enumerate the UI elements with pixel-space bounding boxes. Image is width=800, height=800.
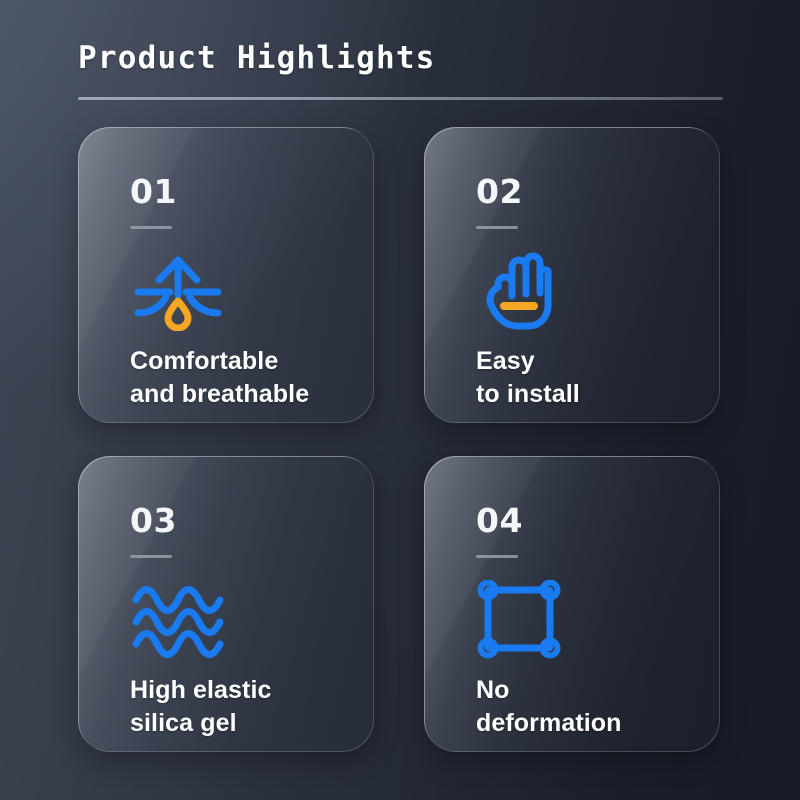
square-frame-icon (488, 590, 550, 648)
page-title: Product Highlights (78, 38, 722, 78)
breathable-airflow-icon (130, 251, 226, 331)
card-number-divider (130, 555, 172, 558)
hand-palm-icon (476, 251, 572, 331)
card-label: Easy to install (476, 345, 720, 411)
title-divider (78, 97, 723, 100)
highlight-card-04[interactable]: 04 No deformation (424, 456, 720, 752)
card-number: 01 (130, 175, 374, 209)
product-highlights-poster: Product Highlights 01 (0, 0, 800, 800)
highlight-card-02[interactable]: 02 Easy to install (424, 127, 720, 423)
card-number-divider (476, 555, 518, 558)
card-label: Comfortable and breathable (130, 345, 374, 411)
card-number: 02 (476, 175, 720, 209)
elastic-waves-icon (130, 580, 226, 660)
card-label: No deformation (476, 674, 720, 740)
highlight-card-03[interactable]: 03 High elastic silica gel (78, 456, 374, 752)
card-number: 04 (476, 504, 720, 538)
header: Product Highlights (78, 38, 722, 78)
bounding-box-handles-icon (476, 580, 572, 660)
card-number-divider (130, 226, 172, 229)
card-number: 03 (130, 504, 374, 538)
card-label: High elastic silica gel (130, 674, 374, 740)
highlights-grid: 01 (78, 127, 724, 755)
card-number-divider (476, 226, 518, 229)
water-drop-icon (168, 301, 188, 328)
highlight-card-01[interactable]: 01 (78, 127, 374, 423)
